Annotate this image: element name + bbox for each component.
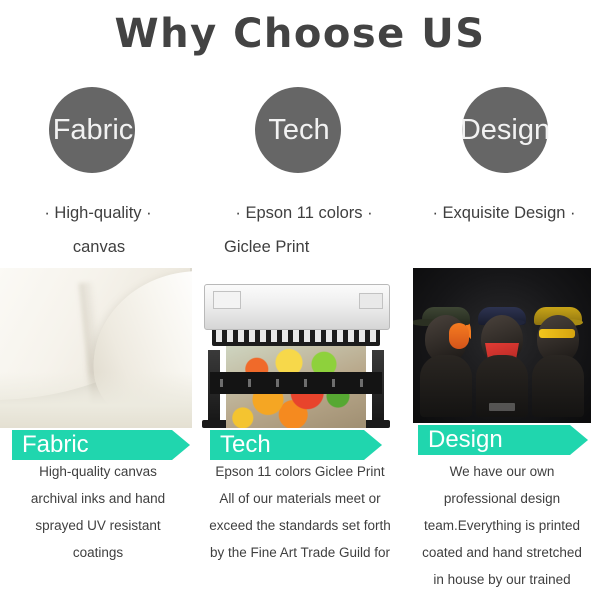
- printer-crossbar: [210, 372, 382, 394]
- photo-card-fabric: Fabric: [0, 268, 192, 460]
- photo-cards-row: Fabric Tech: [0, 268, 600, 458]
- description-line: coatings: [0, 539, 196, 566]
- feature-bullet-tech-line1: · Epson 11 colors ·: [206, 196, 402, 230]
- circle-badges-row: Fabric Tech Design: [0, 87, 600, 175]
- arrow-banner-design: Design: [418, 425, 588, 455]
- canvas-base-shade: [0, 372, 192, 428]
- feature-bullet-fabric: · High-quality · canvas: [0, 196, 196, 264]
- feature-bullets-row: · High-quality · canvas · Epson 11 color…: [0, 196, 600, 266]
- description-line: All of our materials meet or: [198, 485, 402, 512]
- arrow-banner-fabric: Fabric: [12, 430, 190, 460]
- arrow-banner-tech: Tech: [210, 430, 382, 460]
- arrow-banner-label-tech: Tech: [220, 430, 271, 460]
- three-apes-artwork-photo: [413, 268, 591, 423]
- feature-bullet-fabric-line2: canvas: [0, 230, 196, 264]
- description-line: Epson 11 colors Giclee Print: [198, 458, 402, 485]
- description-line: coated and hand stretched: [404, 539, 600, 566]
- yellow-sunglasses-icon: [539, 329, 575, 338]
- wide-format-printer-photo: [200, 268, 392, 428]
- description-line: archival inks and hand: [0, 485, 196, 512]
- circle-badge-label-fabric: Fabric: [0, 87, 186, 173]
- page-title: Why Choose US: [0, 8, 600, 60]
- feature-bullet-design: · Exquisite Design ·: [408, 196, 600, 230]
- description-line: team.Everything is printed: [404, 512, 600, 539]
- description-line: in house by our trained: [404, 566, 600, 593]
- ape-with-sunglasses: [531, 299, 585, 417]
- feature-bullet-tech-line2: Giclee Print: [206, 230, 402, 264]
- arrow-banner-label-design: Design: [428, 425, 503, 455]
- photo-card-tech: Tech: [200, 268, 392, 460]
- artwork-watermark: [489, 403, 515, 411]
- description-line: We have our own: [404, 458, 600, 485]
- title-bar: Why Choose US: [0, 8, 600, 60]
- ape-with-headphones: [419, 299, 473, 417]
- ape1-body: [420, 355, 472, 417]
- description-line: sprayed UV resistant: [0, 512, 196, 539]
- ape-with-bandana: [475, 299, 529, 417]
- printer-body: [204, 284, 390, 330]
- headphone-earcup-icon: [449, 323, 469, 349]
- description-line: High-quality canvas: [0, 458, 196, 485]
- description-tech: Epson 11 colors Giclee Print All of our …: [198, 458, 402, 566]
- description-line: professional design: [404, 485, 600, 512]
- circle-badge-label-tech: Tech: [206, 87, 392, 173]
- description-line: by the Fine Art Trade Guild for: [198, 539, 402, 566]
- description-fabric: High-quality canvas archival inks and ha…: [0, 458, 196, 566]
- description-design: We have our own professional design team…: [404, 458, 600, 593]
- feature-bullet-fabric-line1: · High-quality ·: [0, 196, 196, 230]
- canvas-roll-photo: [0, 268, 192, 428]
- printer-foot-right: [364, 420, 390, 428]
- ape3-body: [532, 355, 584, 417]
- circle-badge-label-design: Design: [410, 87, 600, 173]
- description-line: exceed the standards set forth: [198, 512, 402, 539]
- printer-media-tray-left: [213, 291, 241, 309]
- feature-bullet-tech: · Epson 11 colors · Giclee Print: [206, 196, 402, 264]
- photo-card-design: Design: [408, 268, 591, 455]
- printer-control-panel: [359, 293, 383, 309]
- printer-foot-left: [202, 420, 228, 428]
- arrow-banner-label-fabric: Fabric: [22, 430, 89, 460]
- why-choose-us-infographic: Why Choose US Fabric Tech Design · High-…: [0, 0, 600, 600]
- feature-bullet-design-line1: · Exquisite Design ·: [408, 196, 600, 230]
